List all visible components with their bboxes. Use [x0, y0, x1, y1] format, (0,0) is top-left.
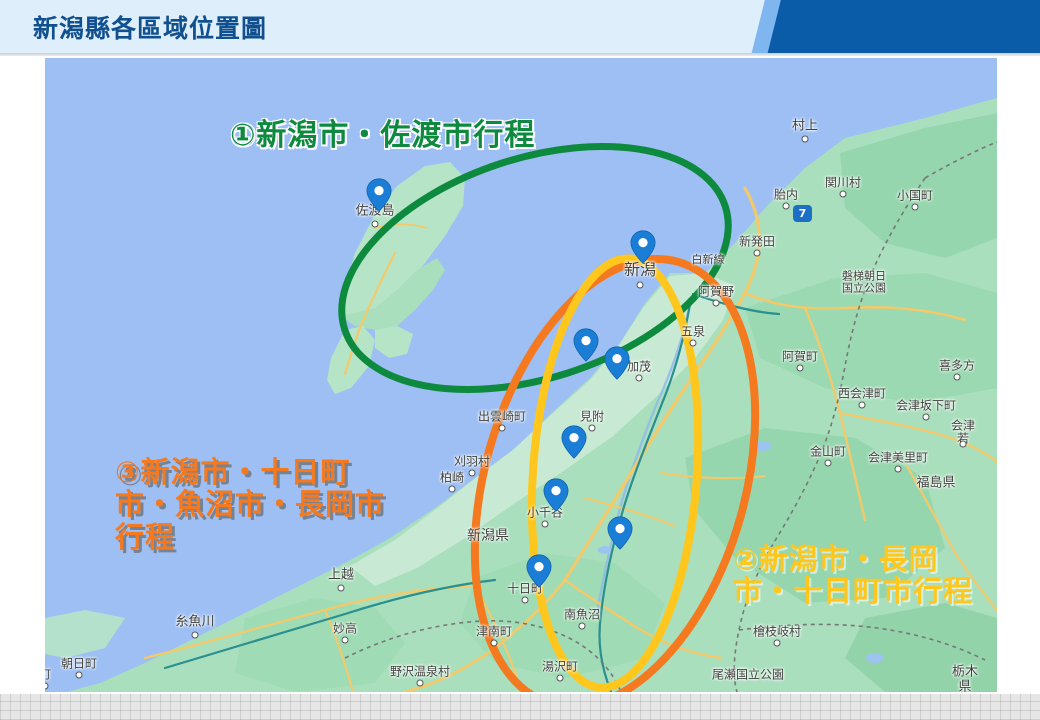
map-place-label: 磐梯朝日 国立公園	[842, 271, 886, 296]
map-place-label: 湯沢町	[542, 660, 578, 673]
map-place-label: 新発田	[739, 235, 775, 248]
map-place-dot	[491, 640, 498, 647]
map-pin-kamo[interactable]	[604, 346, 630, 380]
map-place-label: 檜枝岐村	[753, 625, 801, 638]
map-place-dot	[840, 191, 847, 198]
map-pin-sado[interactable]	[366, 178, 392, 212]
map-place-dot	[636, 375, 643, 382]
map-place-dot	[960, 441, 967, 448]
map-place-label: 刈羽村	[454, 455, 490, 468]
map-place-label: 野沢温泉村	[390, 665, 450, 678]
map-place-label: 尾瀬国立公園	[712, 668, 784, 681]
map-pin-tokamachi[interactable]	[526, 554, 552, 588]
map-place-dot	[372, 221, 379, 228]
map-place-dot	[797, 365, 804, 372]
map-place-label: 村上	[792, 120, 818, 135]
page-title: 新潟縣各區域位置圖	[33, 9, 267, 45]
map-place-label: 南魚沼	[564, 608, 600, 621]
map-place-label: 西会津町	[838, 387, 886, 400]
map-place-dot	[825, 460, 832, 467]
map-container[interactable]: 7 佐渡島新潟村上関川村小国町胎内新発田白新線阿賀野五泉加茂阿賀町磐梯朝日 国立…	[45, 58, 997, 692]
map-place-label: 小国町	[897, 189, 933, 202]
map-place-dot	[802, 136, 809, 143]
map-place-dot	[449, 486, 456, 493]
map-place-dot	[417, 680, 424, 687]
map-place-dot	[522, 597, 529, 604]
map-place-label: 上越	[328, 569, 354, 584]
map-place-label: 胎内	[774, 188, 798, 201]
page-footer	[0, 694, 1040, 720]
map-place-dot	[469, 470, 476, 477]
map-place-dot	[192, 632, 199, 639]
map-place-dot	[542, 521, 549, 528]
map-place-dot	[557, 675, 564, 682]
overlay-label-3: ③新潟市・十日町 市・魚沼市・長岡市 行程	[115, 456, 385, 553]
overlay-label-1: ①新潟市・佐渡市行程	[230, 119, 535, 153]
map-place-label: 白新線	[692, 254, 725, 266]
map-place-dot	[637, 282, 644, 289]
map-place-label: 会津坂下町	[896, 399, 956, 412]
map-pin-ojiya[interactable]	[543, 478, 569, 512]
map-place-dot	[783, 203, 790, 210]
map-place-dot	[589, 425, 596, 432]
map-place-label: 喜多方	[939, 359, 975, 372]
route-shield-7: 7	[793, 205, 812, 222]
map-place-label: 福島県	[916, 477, 955, 492]
route-shield-label: 7	[799, 207, 807, 220]
map-place-dot	[76, 672, 83, 679]
header-divider	[0, 53, 1040, 56]
map-place-label: 朝日町	[61, 657, 97, 670]
map-place-dot	[895, 466, 902, 473]
header-background-right	[761, 0, 1040, 55]
map-place-label: 津南町	[476, 625, 512, 638]
map-place-dot	[579, 623, 586, 630]
map-place-label: 見附	[580, 410, 604, 423]
map-pin-niigata[interactable]	[630, 230, 656, 264]
map-place-label: 町	[45, 668, 51, 681]
map-place-label: 加茂	[627, 360, 651, 373]
map-place-label: 会津美里町	[868, 451, 928, 464]
map-place-label: 出雲崎町	[478, 410, 526, 423]
map-place-label: 五泉	[681, 325, 705, 338]
page-header: 新潟縣各區域位置圖	[0, 0, 1040, 55]
map-place-dot	[923, 414, 930, 421]
map-place-dot	[338, 585, 345, 592]
map-place-label: 阿賀町	[782, 350, 818, 363]
map-place-dot	[690, 340, 697, 347]
map-place-dot	[912, 204, 919, 211]
map-place-label: 柏崎	[440, 471, 464, 484]
map-place-dot	[954, 374, 961, 381]
map-place-dot	[342, 637, 349, 644]
map-pin-sanjo[interactable]	[573, 328, 599, 362]
map-place-label: 阿賀野	[698, 285, 734, 298]
map-place-dot	[499, 425, 506, 432]
map-place-label: 関川村	[825, 176, 861, 189]
map-place-dot	[754, 250, 761, 257]
map-place-dot	[859, 402, 866, 409]
map-place-label: 妙高	[333, 622, 357, 635]
map-pin-nagaoka[interactable]	[561, 425, 587, 459]
map-place-label: 糸魚川	[175, 616, 214, 631]
overlay-label-2: ②新潟市・長岡 市・十日町市行程	[733, 543, 973, 608]
map-place-dot	[774, 640, 781, 647]
map-place-label: 金山町	[810, 445, 846, 458]
map-place-label: 栃木県	[949, 665, 981, 692]
map-pin-uonuma[interactable]	[607, 516, 633, 550]
map-place-dot	[713, 300, 720, 307]
map-place-label: 新潟県	[467, 529, 509, 545]
